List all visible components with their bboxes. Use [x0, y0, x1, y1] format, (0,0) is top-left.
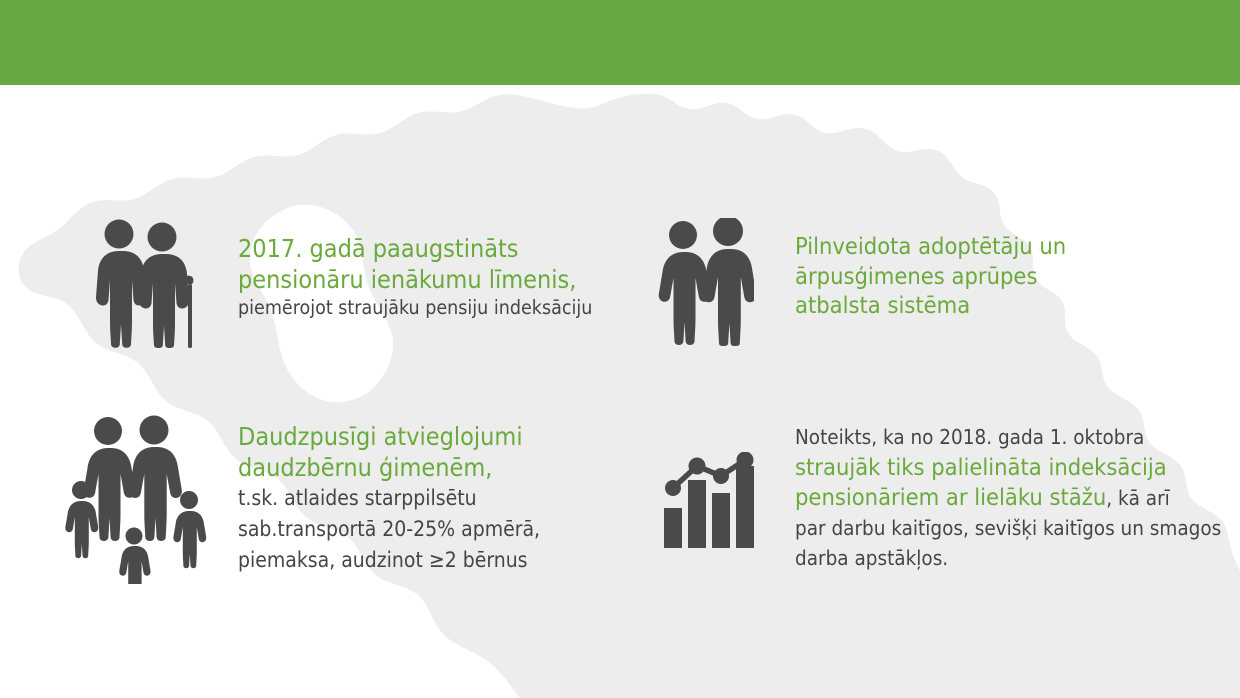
two-adults-icon	[658, 218, 754, 346]
text-line: straujāk tiks palielināta indeksācija	[795, 452, 1221, 482]
trend-point	[737, 452, 754, 469]
infographic-slide: SOCIĀLĀ DROŠĪBA © Valsts kanceleja 2017.…	[0, 0, 1240, 698]
text-line: par darbu kaitīgos, sevišķi kaitīgos un …	[795, 513, 1221, 543]
block-large-families-text: Daudzpusīgi atvieglojumi daudzbērnu ģime…	[238, 422, 540, 576]
text-line-mixed: pensionāriem ar lielāku stāžu, kā arī	[795, 482, 1221, 513]
chart-bar	[664, 508, 682, 548]
family-with-children-icon	[62, 412, 212, 584]
block-indexation-text: Noteikts, ka no 2018. gada 1. oktobra st…	[795, 422, 1221, 573]
trend-line	[673, 460, 745, 488]
text-line: piemaksa, audzinot ≥2 bērnus	[238, 545, 540, 576]
latvia-map-background	[0, 85, 1240, 698]
text-line: Daudzpusīgi atvieglojumi	[238, 422, 540, 453]
chart-bar	[736, 466, 754, 548]
text-line: 2017. gadā paaugstināts	[238, 234, 592, 265]
text-line: Noteikts, ka no 2018. gada 1. oktobra	[795, 422, 1221, 452]
block-pensions-text: 2017. gadā paaugstināts pensionāru ienāk…	[238, 234, 592, 320]
text-line: piemērojot straujāku pensiju indeksāciju	[238, 295, 592, 320]
bar-chart-growth-icon	[660, 452, 760, 548]
elderly-couple-with-cane-icon	[88, 218, 198, 348]
trend-point	[713, 468, 729, 484]
text-line-highlight: pensionāriem ar lielāku stāžu	[795, 483, 1106, 511]
trend-point	[689, 458, 706, 475]
bar-chart-growth-svg	[660, 452, 760, 548]
text-line: sab.transportā 20-25% apmērā,	[238, 514, 540, 545]
text-line: darba apstākļos.	[795, 543, 1221, 573]
trend-point	[665, 480, 681, 496]
latvia-map-svg	[0, 85, 1240, 698]
family-svg	[62, 412, 212, 584]
text-line: t.sk. atlaides starppilsētu	[238, 483, 540, 514]
block-adoption-text: Pilnveidota adoptētāju un ārpusģimenes a…	[795, 232, 1066, 321]
latvia-map-path	[19, 94, 1240, 698]
elderly-couple-svg	[88, 218, 198, 348]
text-line-tail: , kā arī	[1106, 486, 1170, 510]
text-line: atbalsta sistēma	[795, 291, 1066, 321]
chart-bar	[712, 493, 730, 548]
two-adults-svg	[658, 218, 754, 346]
text-line: ārpusģimenes aprūpes	[795, 262, 1066, 292]
header-bar	[0, 0, 1240, 85]
text-line: daudzbērnu ģimenēm,	[238, 453, 540, 484]
chart-bar	[688, 480, 706, 548]
text-line: Pilnveidota adoptētāju un	[795, 232, 1066, 262]
text-line: pensionāru ienākumu līmenis,	[238, 265, 592, 296]
